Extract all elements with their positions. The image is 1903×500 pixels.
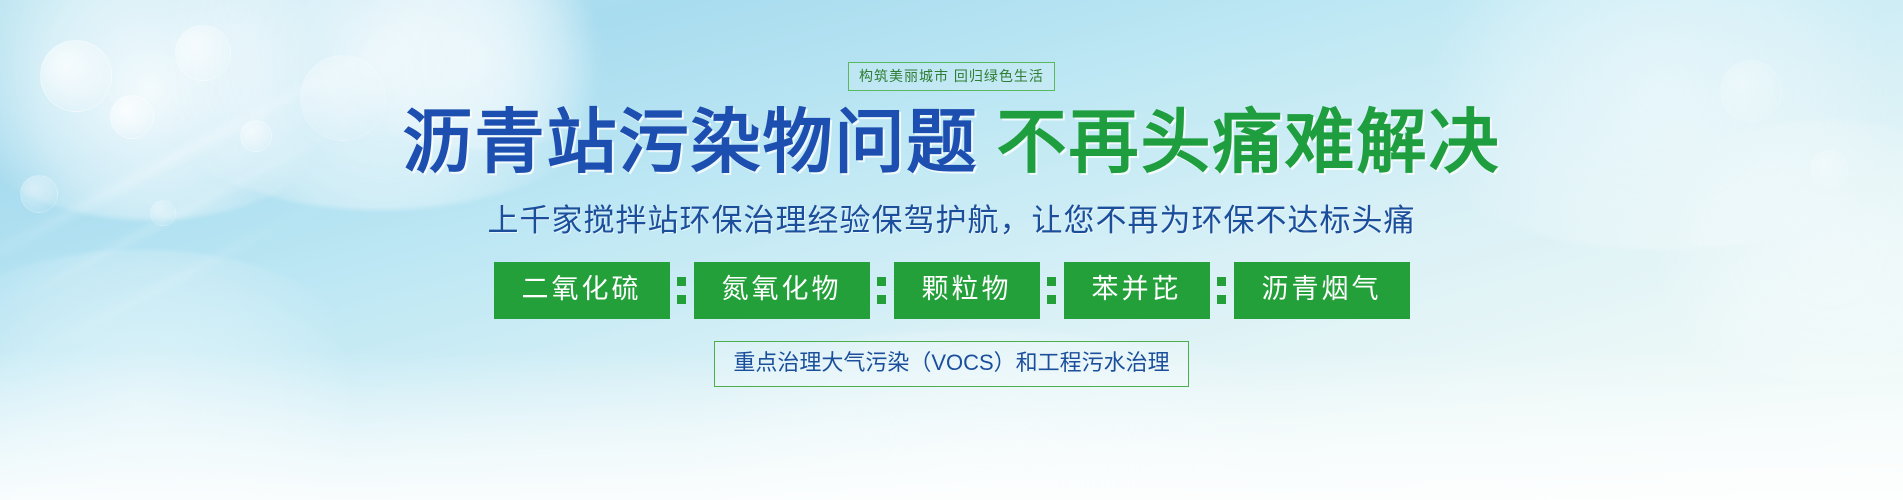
pill-separator xyxy=(1044,277,1060,304)
headline-blue-text: 沥青站污染物问题 xyxy=(403,101,979,183)
pill-item[interactable]: 颗粒物 xyxy=(894,262,1040,319)
pill-separator xyxy=(874,277,890,304)
tagline-badge: 构筑美丽城市 回归绿色生活 xyxy=(848,62,1055,91)
headline-green-text: 不再头痛难解决 xyxy=(997,101,1501,183)
pollutant-pill-row: 二氧化硫 氮氧化物 颗粒物 苯并芘 沥青烟气 xyxy=(494,262,1410,319)
focus-note-badge: 重点治理大气污染（VOCS）和工程污水治理 xyxy=(714,341,1188,387)
subheadline-text: 上千家搅拌站环保治理经验保驾护航，让您不再为环保不达标头痛 xyxy=(488,195,1416,240)
pill-separator xyxy=(1214,277,1230,304)
pill-item[interactable]: 沥青烟气 xyxy=(1234,262,1410,319)
pill-item[interactable]: 苯并芘 xyxy=(1064,262,1210,319)
hero-banner: 构筑美丽城市 回归绿色生活 沥青站污染物问题不再头痛难解决 上千家搅拌站环保治理… xyxy=(0,0,1903,500)
banner-content: 构筑美丽城市 回归绿色生活 沥青站污染物问题不再头痛难解决 上千家搅拌站环保治理… xyxy=(0,0,1903,500)
pill-separator xyxy=(674,277,690,304)
pill-item[interactable]: 二氧化硫 xyxy=(494,262,670,319)
page-title: 沥青站污染物问题不再头痛难解决 xyxy=(403,107,1501,177)
pill-item[interactable]: 氮氧化物 xyxy=(694,262,870,319)
